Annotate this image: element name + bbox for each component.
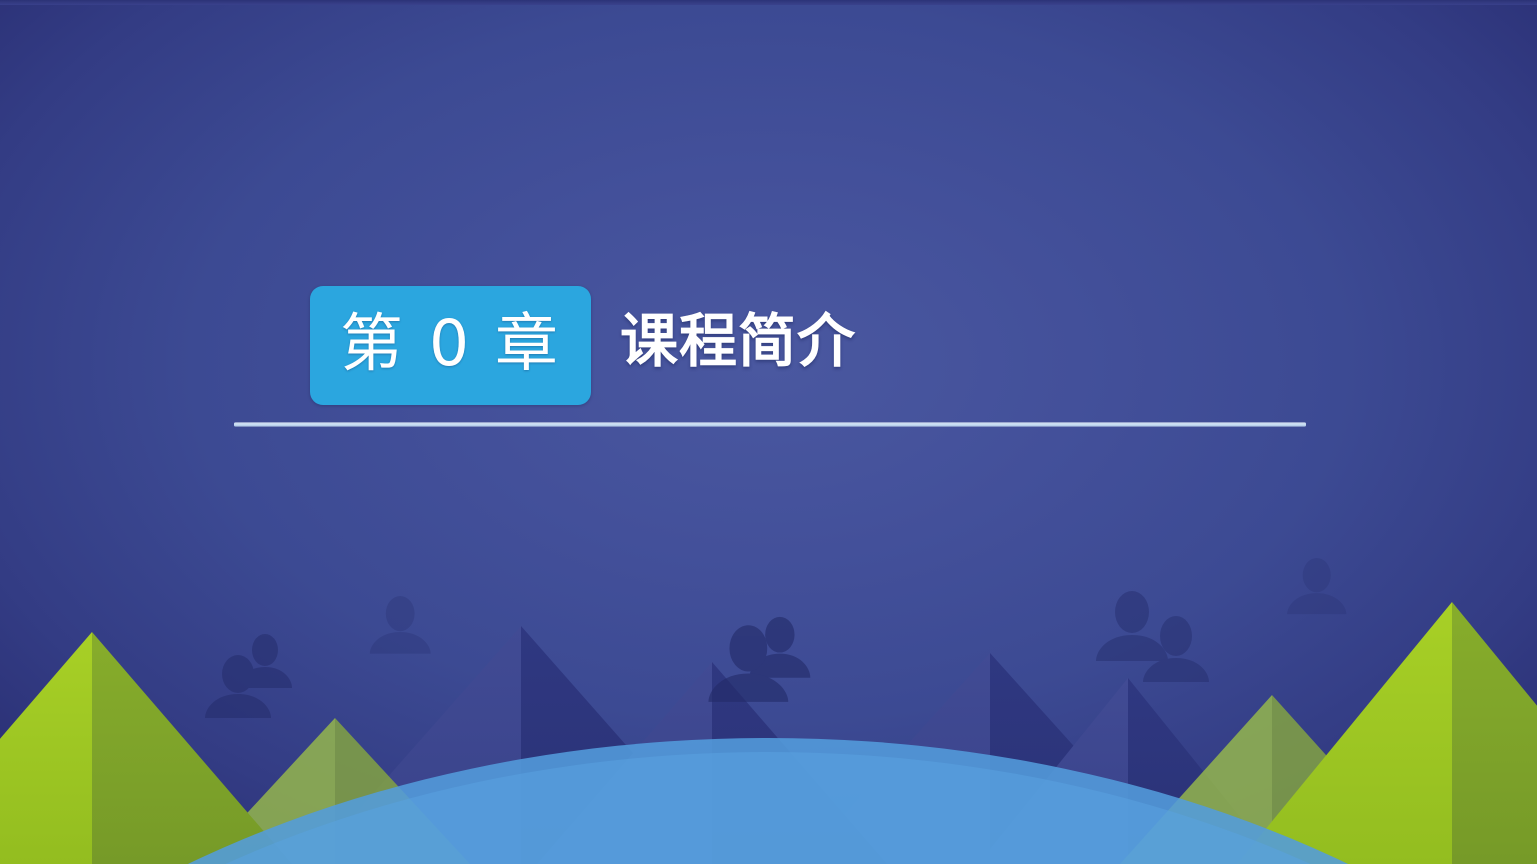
people-pair-center bbox=[708, 617, 810, 702]
title-block: 第 0 章 课程简介 bbox=[234, 270, 1324, 440]
presentation-slide: 第 0 章 课程简介 bbox=[0, 0, 1537, 864]
people-pair-left bbox=[205, 634, 292, 718]
chapter-badge: 第 0 章 bbox=[310, 286, 591, 405]
person-single-left bbox=[370, 596, 431, 654]
title-underline bbox=[234, 422, 1306, 427]
chapter-badge-label: 第 0 章 bbox=[340, 312, 561, 375]
person-single-far-right bbox=[1287, 558, 1346, 614]
people-pair-right bbox=[1096, 591, 1209, 682]
people-layer bbox=[205, 558, 1346, 718]
page-title: 课程简介 bbox=[620, 312, 856, 370]
